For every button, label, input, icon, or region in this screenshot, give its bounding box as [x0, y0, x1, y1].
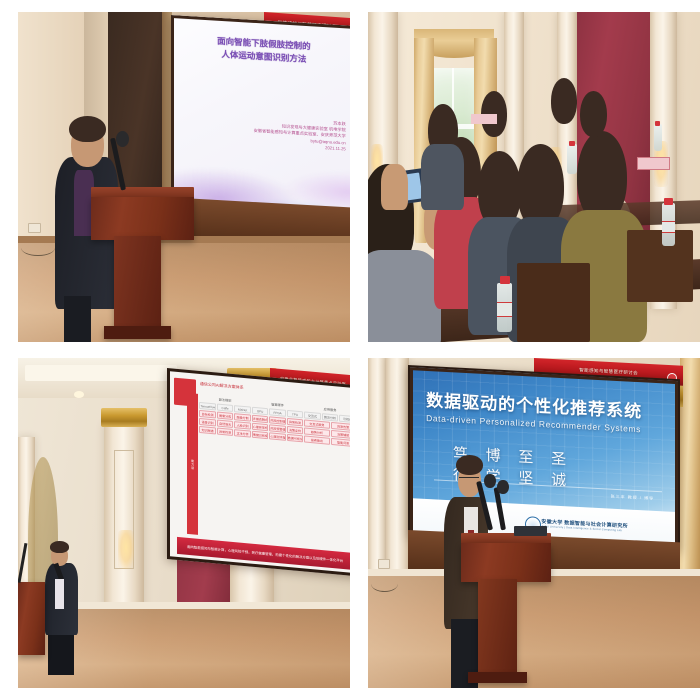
column-1-gilded-capital: [101, 408, 147, 428]
photo-top-right[interactable]: [368, 12, 700, 342]
table-cell: 风险控制模型: [270, 417, 286, 426]
cable: [21, 240, 54, 257]
chair: [627, 230, 693, 303]
speaker-legs: [48, 635, 75, 675]
projection-screen-1: 面向智能下肢假肢控制的 人体运动意图识别方法 苏本跃 知识发现与大健康实验室 机…: [171, 15, 350, 217]
table-cell: 报表输出: [305, 436, 330, 445]
podium-desk: [461, 543, 551, 583]
water-bottle: [662, 203, 675, 246]
podium-base: [104, 326, 170, 339]
table-name-card: [471, 114, 498, 124]
table-cell: 文本分析: [235, 429, 251, 438]
table-column-2: 智算硬件 GPU FPGA TPU 多模态融合风险控制模型异常检测 心理异常检测…: [252, 399, 303, 545]
table-cell: 风险预警模型: [270, 425, 286, 434]
power-outlet-icon: [378, 559, 390, 569]
scene-lecture-hall-2: 智能感知与智慧医疗研讨会 数据驱动的个性化推荐系统 Data-driven Pe…: [368, 358, 700, 688]
projection-screen-2: 通信公司AI解决方案体系 能力层 算法框架 TensorFlow Caffe M…: [167, 368, 350, 577]
table-subheader: TPU: [287, 410, 303, 419]
bottle-label: [497, 302, 512, 317]
table-subheader: FPGA: [270, 409, 286, 418]
water-bottle: [497, 283, 512, 333]
table-subheader: Caffe: [217, 404, 233, 413]
table-cell: 心理异常检测: [252, 423, 268, 432]
hand: [381, 164, 408, 210]
audience-member-body: [368, 250, 441, 342]
podium-desk: [91, 197, 194, 240]
table-cell: 决策支持: [287, 426, 303, 435]
table-cell: 多模态融合: [252, 415, 268, 424]
bottle-label: [662, 221, 675, 233]
scene-ornate-hall: 安徽省智能感知与计算重点实验室 通信公司AI解决方案体系 能力层 算法框架 Te…: [18, 358, 350, 688]
table-cell: 自然语言: [217, 420, 233, 429]
table-subheader: 算法分析: [322, 413, 338, 422]
chair: [517, 263, 590, 342]
table-cell: 情绪识别模型: [252, 431, 268, 440]
table-cell: 数据可视化: [287, 434, 303, 443]
speaker-hair: [456, 455, 483, 475]
screen-frame: [171, 15, 350, 217]
speaker-hair: [69, 116, 106, 142]
table-cell: 语音识别: [200, 418, 216, 427]
water-bottle: [567, 144, 577, 174]
floor: [368, 576, 700, 688]
wall-sconce-1: [118, 530, 135, 570]
water-bottle: [654, 124, 663, 150]
photo-collage: 智能感知与智慧医疗研讨会 面向智能下肢假肢控制的 人体运动意图识别方法 苏本跃 …: [0, 0, 700, 700]
table-subheader: 可视化: [340, 415, 350, 424]
table-cell: 异常检测: [217, 428, 233, 437]
bottle-cap: [500, 276, 510, 284]
table-cell: 知识图谱: [200, 426, 216, 435]
table-column-3: 应用服务 交互式 算法分析 可视化 交互式服务异常告警 趋势分析决策辅助 报表输…: [305, 404, 350, 550]
table-subheader: GPU: [252, 407, 268, 416]
table-name-card: [637, 157, 670, 170]
power-outlet-icon: [28, 223, 41, 233]
table-side-label: 能力层: [187, 393, 199, 535]
laptop-icon: [514, 526, 547, 536]
table-cell: 智能问答: [331, 438, 350, 447]
table-cell: 人脸识别: [235, 421, 251, 430]
table-subheader: TensorFlow: [200, 402, 216, 411]
table-subheader: 交互式: [305, 412, 321, 421]
scene-lecture-hall-1: 智能感知与智慧医疗研讨会 面向智能下肢假肢控制的 人体运动意图识别方法 苏本跃 …: [18, 12, 350, 342]
table-cell: 异常检测: [287, 418, 303, 427]
side-podium: [18, 582, 45, 655]
bottle-cap: [569, 141, 576, 146]
microphone-icon-2: [497, 480, 508, 494]
podium-column: [478, 579, 518, 675]
audience-member-body: [421, 144, 464, 210]
floor-reflection: [368, 576, 700, 688]
table-column-1: 算法框架 TensorFlow Caffe MXNet 目标检测图像分类图像分割…: [200, 394, 251, 540]
speaker-badge-lanyard: [55, 579, 65, 609]
slide-architecture-table: 能力层 算法框架 TensorFlow Caffe MXNet 目标检测图像分类…: [187, 393, 350, 549]
audience-member: [580, 91, 607, 137]
table-cell: 目标检测: [200, 410, 216, 419]
table-cell: 心理测评指标: [270, 433, 286, 442]
photo-bottom-right[interactable]: 智能感知与智慧医疗研讨会 数据驱动的个性化推荐系统 Data-driven Pe…: [368, 358, 700, 688]
table-cell: 图像分割: [235, 413, 251, 422]
podium-column: [114, 236, 160, 328]
photo-bottom-left[interactable]: 安徽省智能感知与计算重点实验室 通信公司AI解决方案体系 能力层 算法框架 Te…: [18, 358, 350, 688]
podium-base: [468, 672, 528, 684]
table-cell: 图像分类: [217, 412, 233, 421]
speaker-hair: [50, 541, 69, 553]
bottle-cap: [655, 121, 661, 126]
speaker-legs: [64, 296, 91, 342]
ceiling-downlight: [74, 391, 84, 398]
slide-heading: 通信公司AI解决方案体系: [200, 381, 244, 391]
audience-member: [551, 78, 578, 124]
scene-conference-hall: [368, 12, 700, 342]
table-subheader: MXNet: [235, 405, 251, 414]
ceiling-cove-light: [25, 365, 178, 382]
bottle-cap: [664, 198, 673, 205]
photo-top-left[interactable]: 智能感知与智慧医疗研讨会 面向智能下肢假肢控制的 人体运动意图识别方法 苏本跃 …: [18, 12, 350, 342]
